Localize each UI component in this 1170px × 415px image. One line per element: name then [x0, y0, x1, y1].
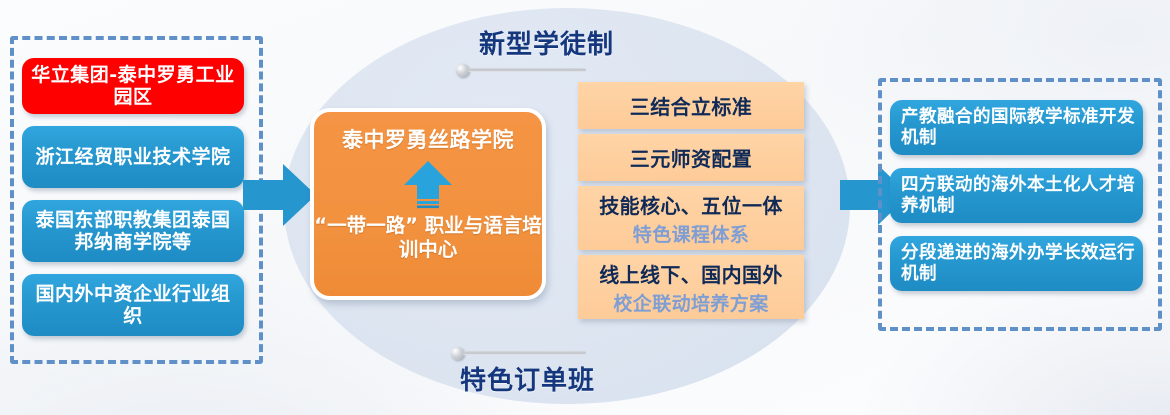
middle-item-1[interactable]: 三结合立标准	[578, 82, 804, 129]
left-item-zjvtit[interactable]: 浙江经贸职业技术学院	[22, 126, 244, 188]
centre-title: 泰中罗勇丝路学院	[342, 124, 514, 154]
right-item-standard-development[interactable]: 产教融合的国际教学标准开发机制	[890, 100, 1143, 155]
connector-line-bottom	[463, 351, 586, 355]
centre-card[interactable]: 泰中罗勇丝路学院 “一带一路” 职业与语言培训中心	[310, 108, 546, 300]
left-item-chinese-enterprises[interactable]: 国内外中资企业行业组织	[22, 274, 244, 336]
connector-node-top	[456, 64, 469, 77]
middle-item-2-line1: 三元师资配置	[630, 143, 752, 172]
middle-item-3[interactable]: 技能核心、五位一体 特色课程体系	[578, 186, 804, 250]
connector-line-top	[468, 68, 586, 72]
up-arrow-icon	[401, 160, 455, 210]
centre-subtitle: “一带一路” 职业与语言培训中心	[314, 214, 542, 262]
left-item-hualide[interactable]: 华立集团-泰中罗勇工业园区	[22, 58, 244, 114]
middle-item-4-line2: 校企联动培养方案	[613, 289, 768, 316]
middle-item-4-line1: 线上线下、国内国外	[599, 259, 783, 288]
diagram-canvas: 华立集团-泰中罗勇工业园区 浙江经贸职业技术学院 泰国东部职教集团泰国邦纳商学院…	[0, 0, 1170, 415]
bottom-label: 特色订单班	[460, 360, 595, 397]
middle-item-3-line2: 特色课程体系	[633, 220, 749, 247]
top-label: 新型学徒制	[479, 24, 614, 61]
connector-node-bottom	[451, 347, 464, 360]
right-item-long-term-operation[interactable]: 分段递进的海外办学长效运行机制	[890, 236, 1143, 291]
middle-item-4[interactable]: 线上线下、国内国外 校企联动培养方案	[578, 255, 804, 319]
middle-item-3-line1: 技能核心、五位一体	[599, 190, 783, 219]
arrow-left-to-centre-icon	[243, 160, 317, 230]
middle-item-1-line1: 三结合立标准	[630, 91, 752, 120]
middle-item-2[interactable]: 三元师资配置	[578, 134, 804, 181]
right-item-talent-cultivation[interactable]: 四方联动的海外本土化人才培养机制	[890, 168, 1143, 223]
left-item-thai-group[interactable]: 泰国东部职教集团泰国邦纳商学院等	[22, 200, 244, 262]
